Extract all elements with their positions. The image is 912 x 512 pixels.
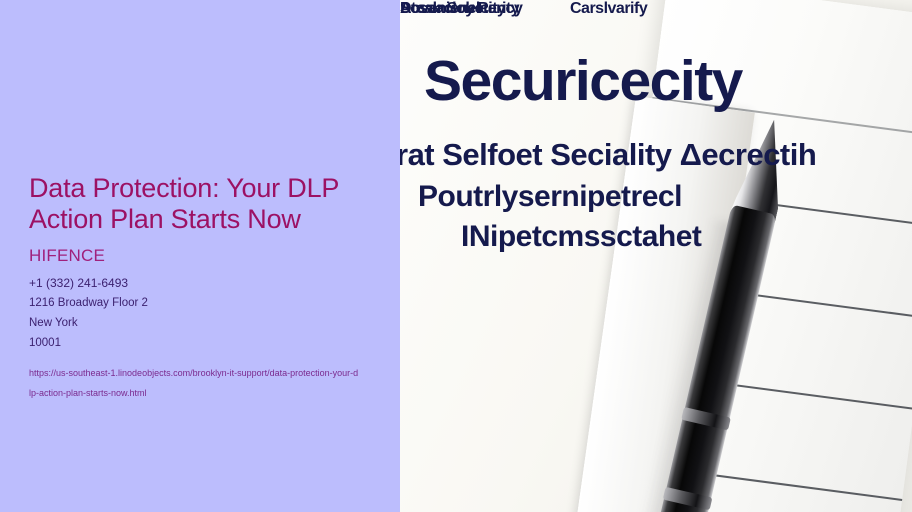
article-preview-card: Data Protection: Your DLP Action Plan St… bbox=[0, 0, 912, 512]
company-city: New York bbox=[29, 313, 374, 333]
company-phone[interactable]: +1 (332) 241-6493 bbox=[29, 273, 374, 293]
article-info-block: Data Protection: Your DLP Action Plan St… bbox=[29, 173, 374, 403]
company-postal-code: 10001 bbox=[29, 333, 374, 353]
source-url-link[interactable]: https://us-southeast-1.linodeobjects.com… bbox=[29, 363, 359, 403]
company-name: HIFENCE bbox=[29, 246, 374, 266]
page-title: Data Protection: Your DLP Action Plan St… bbox=[29, 173, 364, 235]
article-hero-image: Securicecity rat Selfoet Seciality Δecre… bbox=[400, 0, 912, 512]
company-street-address: 1216 Broadway Floor 2 bbox=[29, 293, 374, 313]
left-info-panel: Data Protection: Your DLP Action Plan St… bbox=[0, 0, 400, 512]
